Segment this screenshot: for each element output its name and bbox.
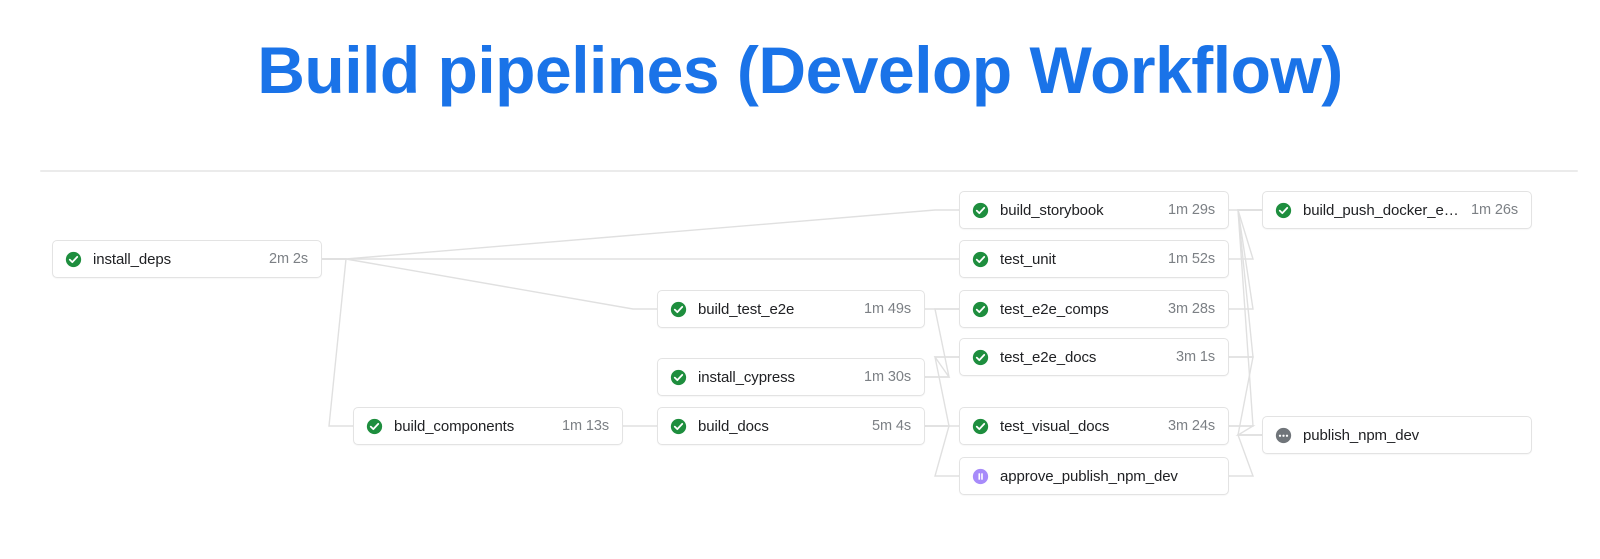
pipeline-node-label: test_visual_docs	[1000, 418, 1156, 435]
pipeline-node-build_docs[interactable]: build_docs5m 4s	[657, 407, 925, 445]
pipeline-node-duration: 3m 24s	[1168, 418, 1215, 434]
pipeline-edge-test_visual_docs-to-build_push_docker_e	[1229, 210, 1262, 426]
pipeline-node-label: publish_npm_dev	[1303, 427, 1518, 444]
pipeline-node-build_test_e2e[interactable]: build_test_e2e1m 49s	[657, 290, 925, 328]
pipeline-node-label: install_cypress	[698, 369, 852, 386]
check-circle-icon	[972, 418, 989, 435]
pipeline-edge-build_docs-to-test_e2e_docs	[925, 357, 959, 426]
pipeline-node-label: build_storybook	[1000, 202, 1156, 219]
pipeline-node-test_visual_docs[interactable]: test_visual_docs3m 24s	[959, 407, 1229, 445]
pipeline-edge-test_visual_docs-to-publish_npm_dev	[1229, 426, 1262, 435]
check-circle-icon	[972, 251, 989, 268]
pipeline-node-build_components[interactable]: build_components1m 13s	[353, 407, 623, 445]
pipeline-edge-install_cypress-to-test_e2e_comps	[925, 309, 959, 377]
check-circle-icon	[972, 202, 989, 219]
pipeline-node-duration: 1m 29s	[1168, 202, 1215, 218]
check-circle-icon	[972, 301, 989, 318]
pipeline-node-label: test_e2e_comps	[1000, 301, 1156, 318]
pipeline-edge-install_deps-to-build_components	[322, 259, 353, 426]
pipeline-node-duration: 2m 2s	[269, 251, 308, 267]
pipeline-node-approve_publish_npm_dev[interactable]: approve_publish_npm_dev	[959, 457, 1229, 495]
pipeline-node-build_push_docker_e[interactable]: build_push_docker_e…1m 26s	[1262, 191, 1532, 229]
pipeline-edge-test_e2e_docs-to-publish_npm_dev	[1229, 357, 1262, 435]
pipeline-node-label: build_docs	[698, 418, 860, 435]
ellipsis-circle-icon	[1275, 427, 1292, 444]
check-circle-icon	[65, 251, 82, 268]
check-circle-icon	[670, 369, 687, 386]
check-circle-icon	[670, 418, 687, 435]
pipeline-node-label: build_test_e2e	[698, 301, 852, 318]
check-circle-icon	[972, 349, 989, 366]
pipeline-node-label: build_push_docker_e…	[1303, 202, 1459, 219]
pipeline-node-test_e2e_docs[interactable]: test_e2e_docs3m 1s	[959, 338, 1229, 376]
pause-circle-icon	[972, 468, 989, 485]
pipeline-graph-page: Build pipelines (Develop Workflow) insta…	[0, 0, 1600, 559]
pipeline-node-duration: 1m 26s	[1471, 202, 1518, 218]
pipeline-edge-test_e2e_comps-to-build_push_docker_e	[1229, 210, 1262, 309]
check-circle-icon	[366, 418, 383, 435]
pipeline-node-build_storybook[interactable]: build_storybook1m 29s	[959, 191, 1229, 229]
pipeline-node-duration: 1m 13s	[562, 418, 609, 434]
pipeline-edge-approve_publish_npm_dev-to-publish_npm_dev	[1229, 435, 1262, 476]
pipeline-edge-install_cypress-to-test_e2e_docs	[925, 357, 959, 377]
pipeline-edge-install_deps-to-build_test_e2e	[322, 259, 657, 309]
pipeline-graph[interactable]: install_deps2m 2sbuild_components1m 13sb…	[0, 0, 1600, 559]
pipeline-node-install_cypress[interactable]: install_cypress1m 30s	[657, 358, 925, 396]
pipeline-edge-test_unit-to-build_push_docker_e	[1229, 210, 1262, 259]
pipeline-edge-test_e2e_docs-to-build_push_docker_e	[1229, 210, 1262, 357]
pipeline-node-install_deps[interactable]: install_deps2m 2s	[52, 240, 322, 278]
pipeline-node-label: test_unit	[1000, 251, 1156, 268]
pipeline-node-duration: 3m 1s	[1176, 349, 1215, 365]
pipeline-node-duration: 1m 30s	[864, 369, 911, 385]
pipeline-edge-install_deps-to-build_storybook	[322, 210, 959, 259]
pipeline-node-label: install_deps	[93, 251, 257, 268]
pipeline-node-label: test_e2e_docs	[1000, 349, 1164, 366]
pipeline-edge-build_docs-to-approve_publish_npm_dev	[925, 426, 959, 476]
check-circle-icon	[670, 301, 687, 318]
pipeline-node-test_unit[interactable]: test_unit1m 52s	[959, 240, 1229, 278]
pipeline-node-label: approve_publish_npm_dev	[1000, 468, 1215, 485]
pipeline-node-duration: 1m 49s	[864, 301, 911, 317]
pipeline-node-label: build_components	[394, 418, 550, 435]
pipeline-node-test_e2e_comps[interactable]: test_e2e_comps3m 28s	[959, 290, 1229, 328]
pipeline-node-publish_npm_dev[interactable]: publish_npm_dev	[1262, 416, 1532, 454]
pipeline-node-duration: 5m 4s	[872, 418, 911, 434]
pipeline-node-duration: 1m 52s	[1168, 251, 1215, 267]
check-circle-icon	[1275, 202, 1292, 219]
pipeline-node-duration: 3m 28s	[1168, 301, 1215, 317]
edge-layer	[0, 0, 1600, 559]
